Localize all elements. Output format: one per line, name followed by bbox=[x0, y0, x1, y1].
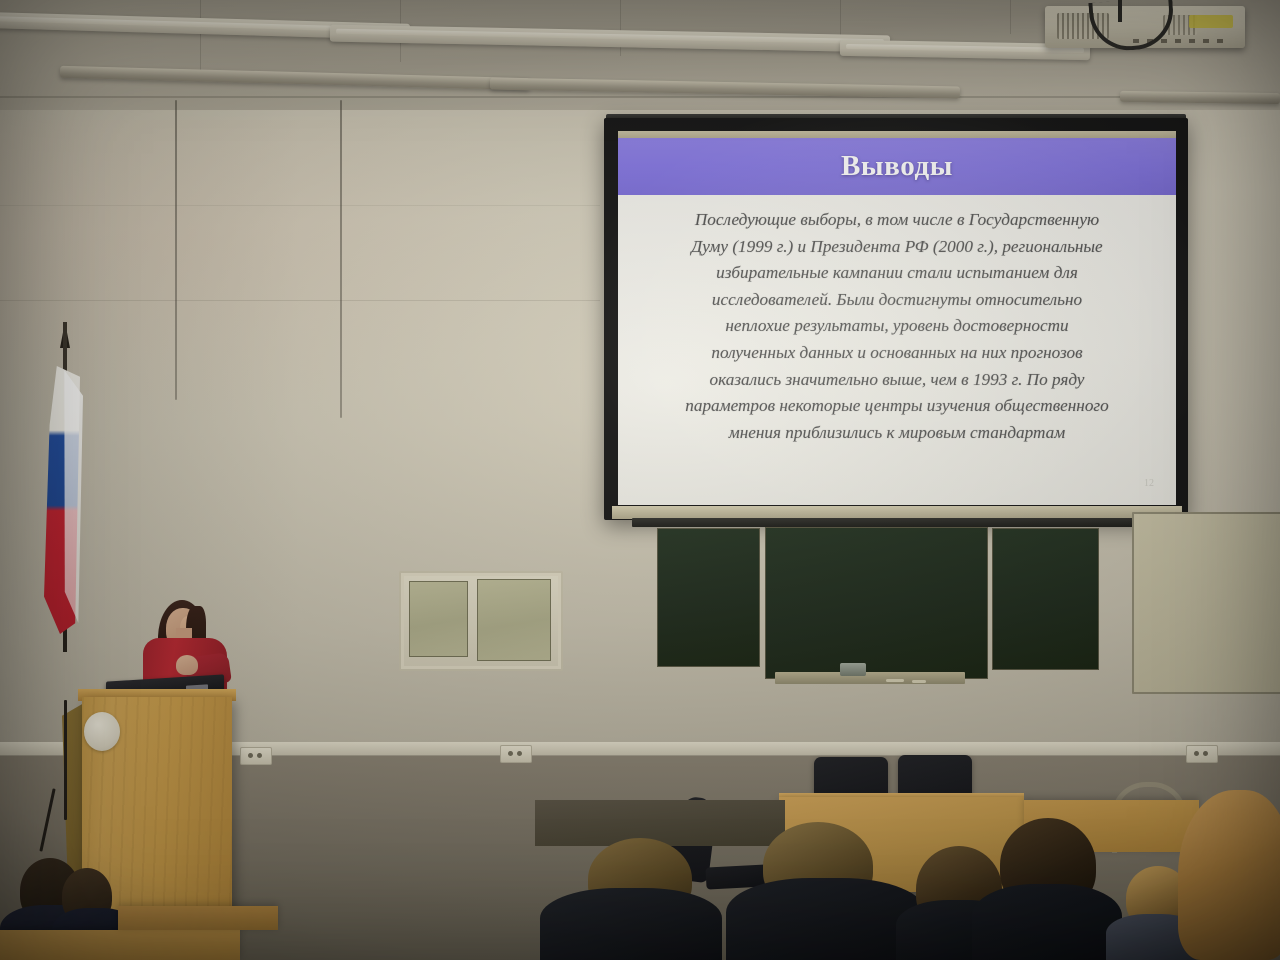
slide-body-text: Последующие выборы, в том числе в Госуда… bbox=[644, 207, 1150, 446]
hanging-cord bbox=[340, 100, 342, 418]
slide-body-line: исследователей. Были достигнуты относите… bbox=[644, 287, 1150, 314]
podium-emblem bbox=[84, 712, 120, 751]
wall-seam bbox=[0, 300, 600, 301]
ceiling-light-fixture bbox=[1120, 91, 1280, 104]
slide-page-number: 12 bbox=[1144, 478, 1154, 489]
slide-title-band: Выводы bbox=[618, 138, 1176, 195]
slide-body-line: мнения приблизились к мировым стандартам bbox=[644, 420, 1150, 447]
interior-window bbox=[399, 571, 563, 671]
chalk-piece[interactable] bbox=[912, 680, 926, 683]
chalk-piece[interactable] bbox=[886, 679, 904, 682]
presentation-slide: Выводы Последующие выборы, в том числе в… bbox=[618, 131, 1176, 505]
audience-torso bbox=[540, 888, 722, 960]
bench-row bbox=[535, 800, 785, 846]
window-pane bbox=[477, 579, 551, 661]
podium-power-cable bbox=[64, 700, 67, 820]
hanging-cord bbox=[175, 100, 177, 400]
audience-head bbox=[1178, 790, 1280, 960]
ceiling-wall-seam bbox=[0, 96, 1280, 98]
slide-top-edge bbox=[618, 131, 1176, 138]
speaker-hand bbox=[176, 655, 198, 675]
chalkboard-eraser[interactable] bbox=[840, 663, 866, 676]
wall-outlet[interactable] bbox=[1186, 745, 1218, 763]
slide-body-line: параметров некоторые центры изучения общ… bbox=[644, 393, 1150, 420]
ceiling-panel-seam bbox=[620, 0, 621, 56]
slide-body-line: избирательные кампании стали испытанием … bbox=[644, 260, 1150, 287]
lecture-hall-photo: Выводы Последующие выборы, в том числе в… bbox=[0, 0, 1280, 960]
chalkboard-panel bbox=[992, 528, 1099, 670]
slide-body-line: полученных данных и основанных на них пр… bbox=[644, 340, 1150, 367]
ceiling-panel-seam bbox=[200, 0, 201, 70]
slide-title: Выводы bbox=[841, 150, 953, 183]
slide-body-line: оказались значительно выше, чем в 1993 г… bbox=[644, 367, 1150, 394]
slide-body-line: Последующие выборы, в том числе в Госуда… bbox=[644, 207, 1150, 234]
chalk-tray bbox=[775, 672, 965, 684]
ceiling-panel-seam bbox=[1010, 0, 1011, 34]
chalkboard-panel bbox=[765, 527, 988, 679]
audience-torso bbox=[972, 884, 1122, 960]
wall-outlet[interactable] bbox=[240, 747, 272, 765]
window-pane bbox=[409, 581, 468, 657]
wall-seam bbox=[0, 205, 600, 206]
bench-row bbox=[0, 930, 240, 960]
chalkboard-rail bbox=[632, 518, 1152, 527]
slide-body-line: Думу (1999 г.) и Президента РФ (2000 г.)… bbox=[644, 234, 1150, 261]
projector-label bbox=[1189, 15, 1233, 28]
slide-body-line: неплохие результаты, уровень достовернос… bbox=[644, 313, 1150, 340]
chalkboard-panel bbox=[657, 528, 760, 667]
wall-warm-reflection bbox=[0, 120, 560, 420]
bench-row bbox=[118, 906, 278, 930]
wall-whiteboard-panel bbox=[1132, 512, 1280, 694]
wall-outlet[interactable] bbox=[500, 745, 532, 763]
